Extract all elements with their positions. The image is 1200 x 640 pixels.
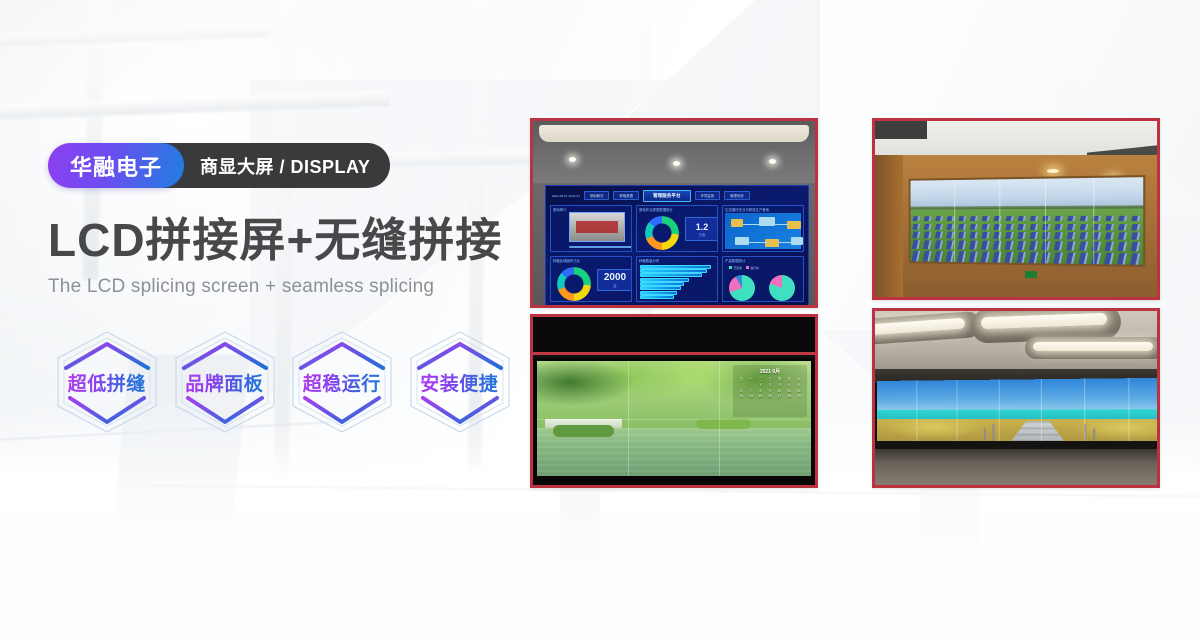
calendar-day: 7 [747,389,756,393]
photo-content [875,121,1157,297]
dashboard-panel-ratio: 种植区域面积占比 2000 亩 稻谷 小麦 玉米 油菜 大豆 果蔬 [550,256,632,303]
map-node [765,239,779,247]
feature-badge-label: 超低拼缝 [68,369,146,396]
calendar-day: 3 [775,383,784,387]
donut-chart [557,267,591,301]
pie-chart [769,275,795,301]
screen-base [875,441,1157,449]
text-line [569,246,632,248]
chart-legend: 已完成 进行中 [729,266,759,270]
kpi-card: 1.2 万亩 [685,217,718,241]
panel-title: 种植数量分布 [639,258,659,263]
bar [640,291,677,295]
panel-title: 种植区域面积占比 [553,258,580,263]
kpi-value: 1.2 [696,222,709,232]
panel-seam [999,179,1000,262]
solar-panel-row [909,251,1146,265]
dashboard-nav: 2021-06-13 10:21:27 基础概况 种植数据 管理服务平台 环境监… [549,189,805,202]
photo-dashboard-wall[interactable]: 2021-06-13 10:21:27 基础概况 种植数据 管理服务平台 环境监… [530,118,818,308]
sky [911,177,1144,208]
ceiling-light [673,161,680,166]
weekday: 一 [747,377,756,381]
calendar-day: 6 [737,389,746,393]
dashboard-tab: 管理系统 [724,191,750,200]
calendar-day: 5 [794,383,803,387]
text-line [631,230,632,232]
bar [640,273,702,277]
wood-wall-side [875,155,903,297]
calendar-title: 2021 6月 [737,368,803,375]
ceiling [875,311,1157,373]
upper-dark-band [533,317,815,355]
hedge [553,425,613,437]
panel-photo [569,212,625,242]
dashboard-panel-intro: 基地简介 [550,205,632,252]
calendar-day: 14 [747,394,756,398]
feature-badge-3: 超稳运行 [283,326,401,438]
exit-sign-icon [1025,271,1037,278]
panel-title: 基地简介 [553,207,567,212]
map-node [787,221,801,229]
solar-panel-row [909,223,1146,230]
calendar-day: 2 [766,383,775,387]
map-link [749,242,767,243]
ceiling-light [769,159,776,164]
kpi-unit: 万亩 [699,232,706,237]
map-node [791,237,803,245]
weekday: 五 [785,377,794,381]
legend-item: 已完成 [729,266,742,270]
calendar-day: 10 [775,389,784,393]
panel-seam [1045,179,1046,264]
map-node [759,217,775,226]
weekday: 二 [756,377,765,381]
panel-title: 基地作业类型数据统计 [639,207,673,212]
flow-map [725,213,801,249]
legend-item: 进行中 [746,266,759,270]
feature-badge-1: 超低拼缝 [48,326,166,438]
bar-chart [640,265,714,300]
dashboard-panel-flowmap: 生态循环农业与精准生产基地 [722,205,804,252]
feature-badge-label: 品牌面板 [185,369,263,396]
calendar-day: 4 [785,383,794,387]
weekday: 四 [775,377,784,381]
hall-floor [875,449,1157,485]
calendar-day: 1 [756,383,765,387]
dune [883,419,987,439]
calendar-day: 17 [775,394,784,398]
photo-content: 2021-06-13 10:21:27 基础概况 种植数据 管理服务平台 环境监… [533,121,815,305]
calendar-day: 9 [766,389,775,393]
feature-badge-label: 超稳运行 [303,369,381,396]
calendar-days: 1 2 3 4 5 6 7 8 9 10 11 12 13 14 [737,383,803,398]
map-node [735,237,749,245]
dashboard-panel-area: 基地作业类型数据统计 1.2 万亩 种植 100 亩 管理中心 20 家 养殖 … [636,205,718,252]
map-link [775,224,789,225]
calendar-widget: 2021 6月 日 一 二 三 四 五 六 1 2 [733,365,807,417]
calendar-day: 19 [794,394,803,398]
solar-panel-row [909,216,1146,221]
ceiling [533,121,815,183]
dashboard-tab: 种植数据 [613,191,639,200]
map-node [731,219,743,227]
bar [640,295,674,299]
dashboard-panel-pies: 产量数据统计 已完成 进行中 [722,256,804,303]
calendar-weekdays: 日 一 二 三 四 五 六 [737,377,803,381]
ceiling-cove [539,125,809,142]
calendar-day: 12 [794,389,803,393]
feature-badge-label: 安装便捷 [420,369,498,396]
video-wall-screen: 2021-06-13 10:21:27 基础概况 种植数据 管理服务平台 环境监… [545,185,809,305]
kpi-value: 2000 [604,272,626,283]
hedge [696,419,751,429]
video-wall-screen [909,175,1146,267]
calendar-day: 13 [737,394,746,398]
ceiling-light [569,157,576,162]
text-line [631,225,632,227]
ceiling-light-strip [1033,342,1153,351]
donut-chart [645,216,679,250]
feature-badge-list: 超低拼缝 品牌面板 超稳运行 [48,326,518,438]
dashboard-grid: 基地简介 基地作业类型数据统计 1.2 [550,205,804,302]
bar [640,286,681,290]
text-line [631,220,632,222]
brand-name-pill: 华融电子 [48,143,184,188]
kpi-card: 2000 亩 [597,269,632,291]
pie-chart [729,275,755,301]
dashboard-tab: 基础概况 [584,191,610,200]
brand-category-pill: 商显大屏 / DISPLAY [162,143,390,188]
calendar-day: 16 [766,394,775,398]
panel-title: 产量数据统计 [725,258,745,263]
calendar-day [737,383,746,387]
calendar-day: 15 [756,394,765,398]
photo-content: 2021 6月 日 一 二 三 四 五 六 1 2 [533,317,815,485]
map-link [743,224,761,225]
panel-title: 生态循环农业与精准生产基地 [725,207,769,212]
calendar-day [747,383,756,387]
calendar-day: 11 [785,389,794,393]
weekday: 三 [766,377,775,381]
text-line [569,251,632,252]
headline-block: 华融电子 商显大屏 / DISPLAY LCD拼接屏+无缝拼接 The LCD … [48,143,518,438]
panel-seam [1093,178,1094,264]
dashboard-tab: 环境监测 [695,191,721,200]
bar [640,265,711,269]
dashboard-panel-bars: 种植数量分布 [636,256,718,303]
feature-badge-2: 品牌面板 [166,326,284,438]
text-line [631,215,632,217]
photo-content [875,311,1157,485]
map-link [779,242,793,243]
dashboard-timestamp: 2021-06-13 10:21:27 [552,194,580,198]
panel-seam [537,419,811,420]
dashboard-tab-active: 管理服务平台 [643,190,691,202]
photo-beach-wall[interactable] [872,308,1160,488]
photo-park-wall[interactable]: 2021 6月 日 一 二 三 四 五 六 1 2 [530,314,818,488]
photo-solar-wall[interactable] [872,118,1160,300]
panel-seam [954,180,955,262]
ceiling-recess [875,121,927,139]
calendar-day: 18 [785,394,794,398]
page-title: LCD拼接屏+无缝拼接 [48,216,518,264]
weekday: 日 [737,377,746,381]
calendar-day: 8 [756,389,765,393]
weekday: 六 [794,377,803,381]
page-subtitle: The LCD splicing screen + seamless splic… [48,276,518,298]
kpi-unit: 亩 [613,283,616,288]
wall-light [1047,169,1059,173]
feature-badge-4: 安装便捷 [401,326,519,438]
bar [640,278,689,282]
sky [877,378,1157,412]
video-wall-screen: 2021 6月 日 一 二 三 四 五 六 1 2 [537,361,811,476]
brand-badge: 华融电子 商显大屏 / DISPLAY [48,143,518,188]
